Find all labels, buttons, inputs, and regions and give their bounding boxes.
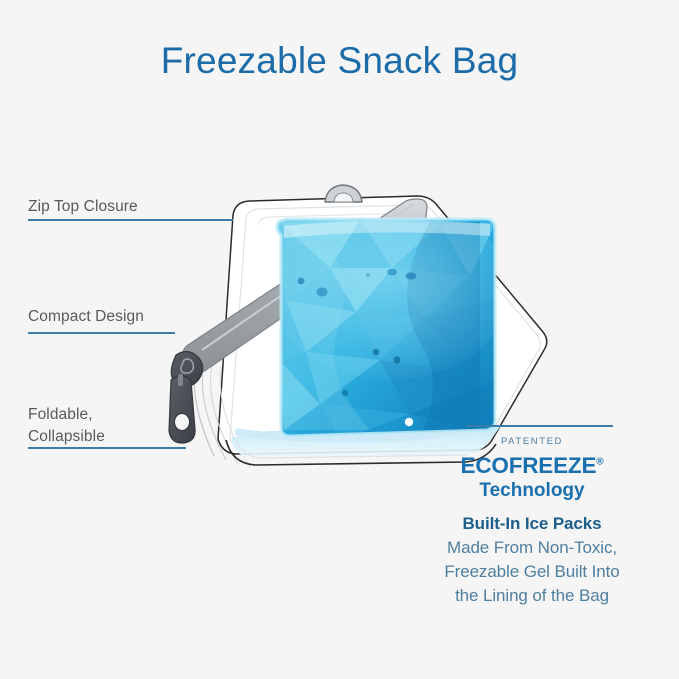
brand-name-text: ECOFREEZE [461, 453, 597, 478]
callout-line-compact-design [28, 332, 175, 334]
description-line-3: the Lining of the Bag [398, 584, 666, 608]
description-line-2: Freezable Gel Built Into [398, 560, 666, 584]
hang-loop [325, 185, 362, 202]
gel-bubble [373, 349, 379, 355]
zipper-tab [169, 376, 195, 443]
gel-facets [270, 200, 510, 454]
brand-suffix: Technology [398, 480, 666, 502]
gel-bubble [406, 272, 417, 279]
gel-bubble [393, 356, 400, 363]
callout-line-ecofreeze [466, 425, 613, 427]
callout-label-foldable-collapsible: Foldable, Collapsible [28, 404, 105, 448]
zipper-slider-slot [178, 374, 183, 386]
built-in-ice-pack [270, 200, 510, 454]
brand-name: ECOFREEZE® [398, 453, 666, 479]
gel-bubble [366, 273, 370, 277]
registered-mark: ® [596, 457, 603, 468]
callout-line-foldable-collapsible [28, 447, 186, 449]
zipper-pull [169, 351, 203, 443]
gel-bubble [298, 278, 305, 285]
callout-label-zip-top-closure: Zip Top Closure [28, 196, 138, 218]
gel-bubble-white [405, 418, 413, 426]
gel-bubble [317, 288, 328, 297]
callout-label-compact-design: Compact Design [28, 306, 144, 328]
zipper-tab-hole [175, 414, 190, 431]
description-line-1: Made From Non-Toxic, [398, 536, 666, 560]
callout-line-zip-top-closure [28, 219, 233, 221]
description-block: Built-In Ice Packs Made From Non-Toxic, … [398, 512, 666, 608]
infographic-root: Freezable Snack Bag [0, 0, 679, 679]
patented-label: PATENTED [398, 436, 666, 447]
brand-block: PATENTED ECOFREEZE® Technology [398, 436, 666, 502]
gel-bubble [387, 269, 397, 276]
gel-bubble [342, 390, 348, 396]
description-heading: Built-In Ice Packs [398, 512, 666, 536]
